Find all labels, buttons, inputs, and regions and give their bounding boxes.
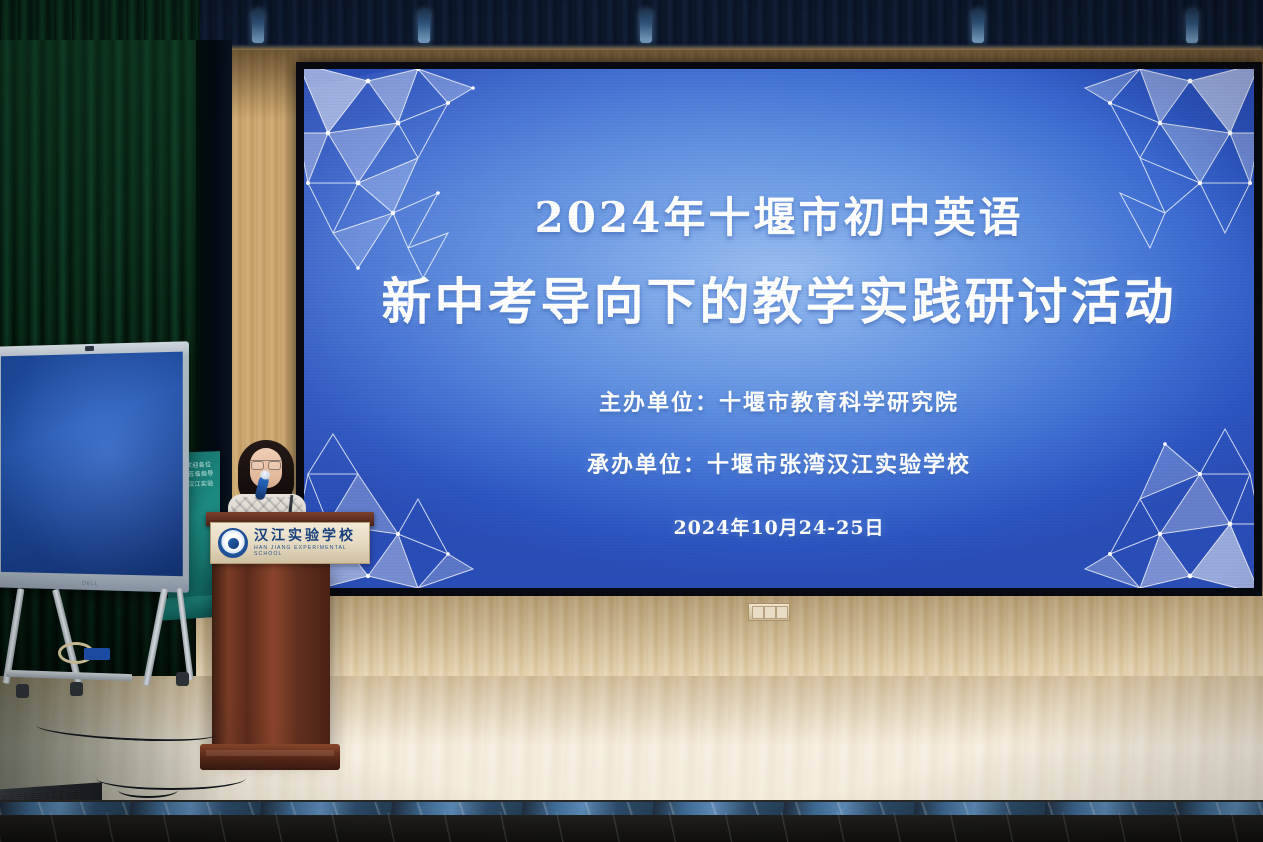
school-name-block: 汉江实验学校 HAN JIANG EXPERIMENTAL SCHOOL	[254, 529, 369, 556]
podium-nameplate: 汉江实验学校 HAN JIANG EXPERIMENTAL SCHOOL	[210, 522, 370, 564]
caster-wheel-1	[70, 682, 83, 696]
led-screen-bezel: 2024年十堰市初中英语 新中考导向下的教学实践研讨活动 主办单位：十堰市教育科…	[296, 62, 1262, 598]
hanging-light-1	[252, 10, 264, 43]
stage-edge-veining	[0, 812, 1263, 842]
hanging-light-2	[418, 10, 430, 43]
interactive-whiteboard[interactable]: DELL	[0, 341, 189, 593]
stage-photograph: 2024年十堰市初中英语 新中考导向下的教学实践研讨活动 主办单位：十堰市教育科…	[0, 0, 1263, 842]
led-screen: 2024年十堰市初中英语 新中考导向下的教学实践研讨活动 主办单位：十堰市教育科…	[304, 69, 1254, 588]
led-scanline-overlay	[304, 69, 1254, 588]
podium-column	[212, 560, 330, 752]
hanging-light-3	[640, 10, 652, 43]
school-name-cn: 汉江实验学校	[254, 529, 369, 543]
power-adapter	[84, 648, 110, 660]
lower-wall-panel	[196, 596, 1263, 676]
power-outlet-panel	[748, 603, 790, 621]
webcam-icon	[85, 346, 94, 351]
caster-wheel-2	[176, 672, 189, 686]
podium-base	[200, 744, 340, 770]
hanging-light-5	[1186, 10, 1198, 43]
caster-wheel-3	[16, 684, 29, 698]
floor-cable-2	[118, 782, 178, 798]
school-logo-icon	[218, 528, 248, 558]
glasses-icon	[251, 460, 281, 468]
school-name-en: HAN JIANG EXPERIMENTAL SCHOOL	[254, 546, 369, 556]
hanging-light-4	[972, 10, 984, 43]
monitor-brand-label: DELL	[82, 581, 98, 587]
whiteboard-screen[interactable]	[1, 352, 183, 577]
